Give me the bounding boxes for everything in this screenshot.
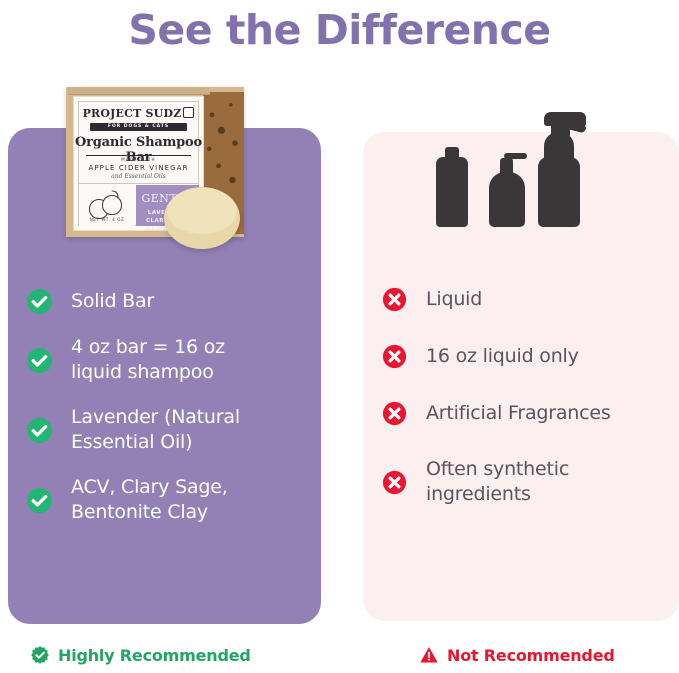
feature-list-left: Solid Bar 4 oz bar = 16 ozliquid shampoo… [26,288,304,545]
soap-bar-top [167,188,237,234]
check-circle-icon [26,347,53,374]
label-brand: PROJECT SUDZ [74,106,203,120]
verified-badge-icon [30,645,50,665]
label-apple-section: NET WT. 4 OZ [79,185,135,226]
apple-stem-icon [110,190,119,199]
pump-nozzle-icon [504,153,527,159]
list-item-label: Solid Bar [71,289,154,314]
page-title: See the Difference [0,4,679,56]
box-top-lip [68,87,210,95]
check-circle-icon [26,487,53,514]
spray-trigger-lever-icon [554,126,570,137]
list-item: Artificial Fragrances [381,400,669,427]
pump-bottle-icon [489,172,525,227]
list-item: Liquid [381,286,669,313]
footer-not-recommended: Not Recommended [419,645,615,665]
list-item-label: 4 oz bar = 16 ozliquid shampoo [71,335,225,385]
warning-triangle-icon [419,645,439,665]
list-item-label: Artificial Fragrances [426,401,611,426]
footer-highly-recommended: Highly Recommended [30,645,251,665]
list-item-label: Often syntheticingredients [426,457,569,507]
x-circle-icon [381,286,408,313]
x-circle-icon [381,469,408,496]
list-item: Solid Bar [26,288,304,315]
plain-bottle-icon [436,157,468,227]
list-item-label: Liquid [426,287,482,312]
plain-bottle-neck [445,147,459,160]
label-ribbon: FOR DOGS & CATS [90,123,187,131]
label-rule [86,155,191,156]
feature-list-right: Liquid 16 oz liquid only Artificial Frag… [381,286,669,537]
list-item: Often syntheticingredients [381,457,669,507]
list-item-label: ACV, Clary Sage,Bentonite Clay [71,475,228,525]
pump-bottle-neck [500,158,513,176]
bottle-silhouettes [432,110,592,245]
label-ingredient-sub: and Essential Oils [74,173,203,180]
list-item-label: Lavender (NaturalEssential Oil) [71,405,240,455]
label-ingredient-headline: APPLE CIDER VINEGAR [74,164,203,172]
list-item-label: 16 oz liquid only [426,344,579,369]
list-item: 16 oz liquid only [381,343,669,370]
label-brand-text: PROJECT SUDZ [83,107,182,120]
paw-badge-icon [183,107,194,118]
x-circle-icon [381,400,408,427]
x-circle-icon [381,343,408,370]
soap-bar [164,187,240,249]
check-circle-icon [26,288,53,315]
label-divider [78,183,199,184]
check-circle-icon [26,417,53,444]
footer-label: Highly Recommended [58,646,251,665]
apples-icon [89,191,125,219]
list-item: ACV, Clary Sage,Bentonite Clay [26,475,304,525]
list-item: 4 oz bar = 16 ozliquid shampoo [26,335,304,385]
product-image: PROJECT SUDZ FOR DOGS & CATS Organic Sha… [60,84,275,259]
list-item: Lavender (NaturalEssential Oil) [26,405,304,455]
label-net-weight: NET WT. 4 OZ [79,217,135,222]
footer-label: Not Recommended [447,646,615,665]
apple-shape-front [102,195,122,215]
label-made-with: MADE WITH [74,157,203,162]
spray-bottle-icon [538,157,580,227]
